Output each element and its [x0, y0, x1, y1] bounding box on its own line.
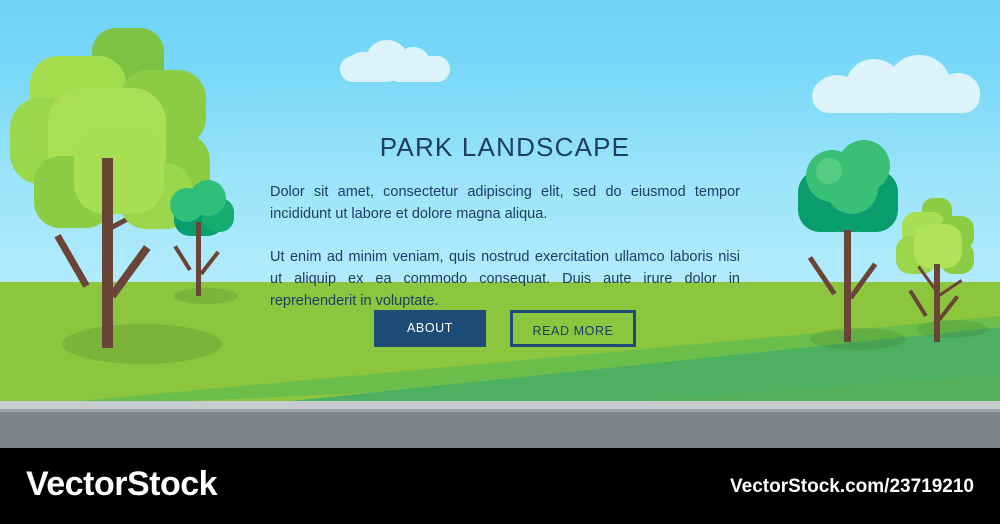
foliage-blob — [190, 180, 226, 216]
tree-branch — [109, 245, 151, 298]
vectorstock-logo: VectorStock — [26, 465, 217, 504]
foliage-highlight — [816, 158, 842, 184]
read-more-button[interactable]: READ MORE — [510, 310, 636, 347]
tree-branch — [938, 279, 963, 297]
tree-branch — [173, 245, 191, 271]
vectorstock-url: VectorStock.com/23719210 — [730, 476, 974, 498]
tree-shadow — [916, 320, 988, 338]
foliage-blob — [74, 128, 164, 214]
vector-illustration-banner: PARK LANDSCAPE Dolor sit amet, consectet… — [0, 0, 1000, 524]
tree-trunk — [844, 230, 851, 342]
body-paragraph-1: Dolor sit amet, consectetur adipiscing e… — [270, 181, 740, 225]
tree-branch — [54, 234, 89, 288]
tree-branch — [937, 295, 959, 321]
tree-right-big — [796, 140, 904, 355]
tree-left-small — [168, 180, 244, 305]
tree-shadow — [810, 328, 906, 350]
banner-content: PARK LANDSCAPE Dolor sit amet, consectet… — [270, 132, 740, 312]
button-group: ABOUT READ MORE — [270, 310, 740, 347]
tree-trunk — [934, 264, 940, 342]
tree-shadow — [62, 324, 222, 364]
road-surface — [0, 412, 1000, 448]
park-scene: PARK LANDSCAPE Dolor sit amet, consectet… — [0, 0, 1000, 448]
about-button[interactable]: ABOUT — [374, 310, 486, 347]
tree-branch — [808, 256, 837, 295]
tree-trunk — [196, 222, 201, 296]
watermark-footer: VectorStock VectorStock.com/23719210 — [0, 448, 1000, 524]
tree-right-small — [896, 198, 980, 343]
tree-branch — [848, 263, 877, 300]
tree-branch — [199, 251, 219, 276]
tree-trunk — [102, 158, 113, 348]
tree-branch — [908, 289, 927, 317]
body-paragraph-2: Ut enim ad minim veniam, quis nostrud ex… — [270, 246, 740, 312]
foliage-blob — [914, 224, 962, 268]
tree-shadow — [174, 288, 238, 304]
page-title: PARK LANDSCAPE — [270, 132, 740, 163]
